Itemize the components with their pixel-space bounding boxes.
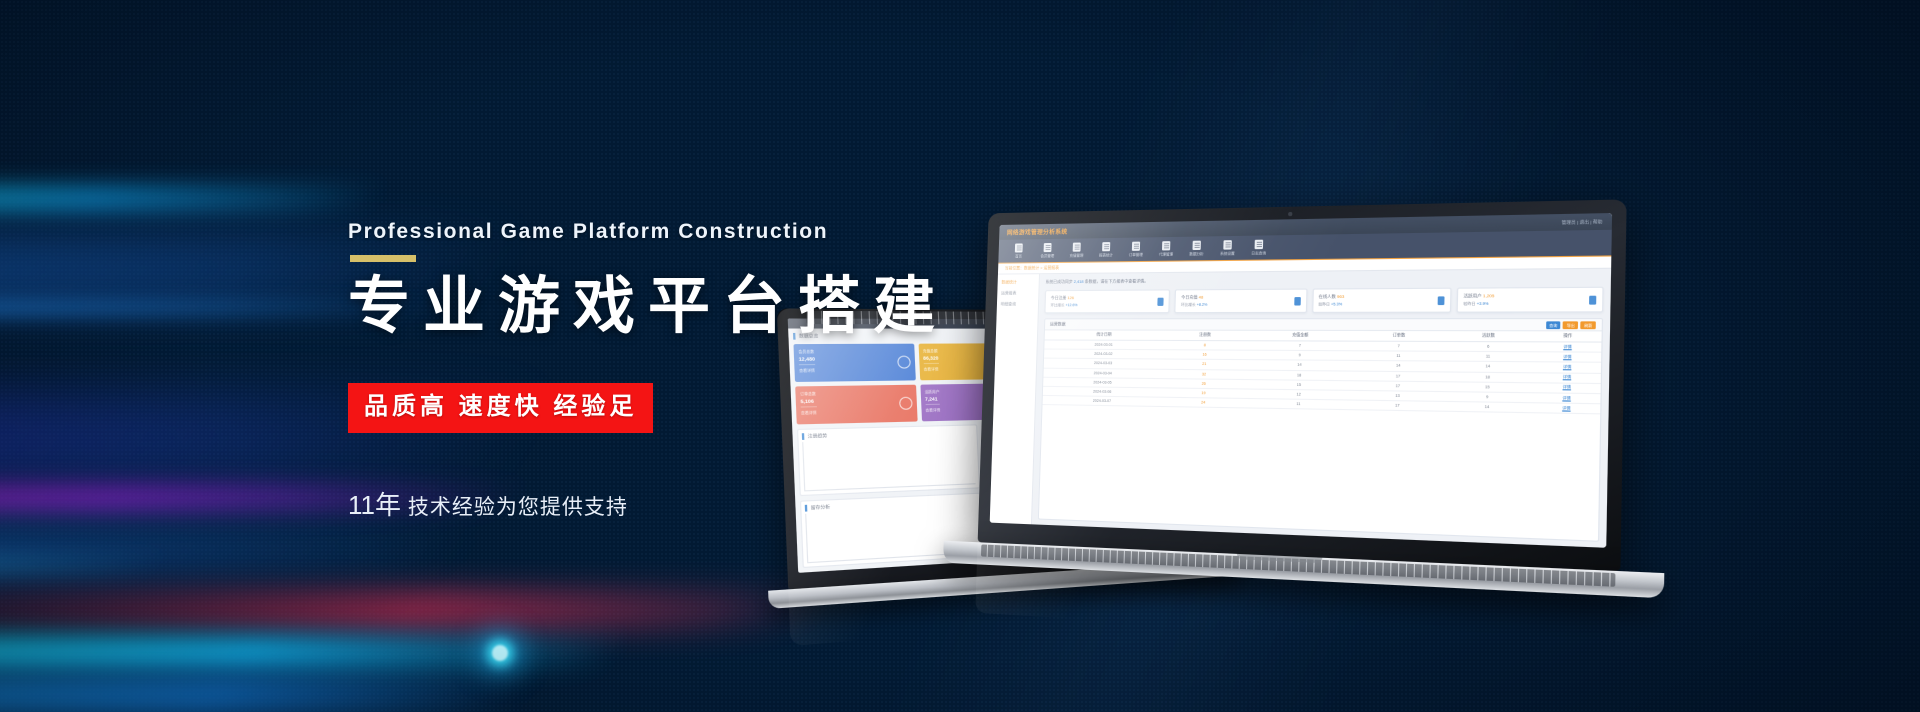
toolbar-item-settings[interactable]: 系统设置 [1212, 239, 1244, 256]
note-highlight: 2,418 [1074, 279, 1084, 284]
cell-detail-link[interactable]: 详情 [1534, 342, 1601, 353]
card-sub-value: +12.6% [1065, 303, 1077, 307]
cell-date: 2024-03-07 [1043, 396, 1163, 407]
slogan-badge-text: 品质高 速度快 经验足 [364, 393, 637, 420]
card-title: 在线人数 963 [1318, 294, 1344, 300]
sidebar-item-detail[interactable]: 明细查询 [1001, 301, 1035, 307]
home-icon [1015, 243, 1023, 252]
toolbar-label: 数据分析 [1189, 251, 1203, 256]
cell-orders: 7 [1355, 341, 1443, 351]
wallet-icon [1073, 242, 1081, 251]
streak-aqua-upper [0, 556, 166, 576]
toolbar-label: 会员管理 [1040, 253, 1054, 258]
users-icon [1044, 242, 1052, 251]
cell-registrations: 16 [1164, 350, 1246, 360]
stat-card[interactable]: 今日注册 126 环比增长 +12.6% [1044, 289, 1170, 313]
toolbar-item-order[interactable]: 订单管理 [1121, 241, 1151, 258]
card-sub-label: 较昨日 [1318, 302, 1330, 306]
refresh-button[interactable]: 刷新 [1581, 321, 1596, 329]
cell-active: 14 [1442, 402, 1533, 414]
stat-card-row: 今日注册 126 环比增长 +12.6% [1044, 287, 1603, 314]
order-icon [1132, 241, 1140, 250]
query-button[interactable]: 查询 [1546, 321, 1561, 329]
cell-orders: 11 [1355, 351, 1443, 361]
log-icon [1255, 239, 1264, 249]
col-actions: 操作 [1534, 331, 1601, 342]
streak-red [0, 596, 829, 626]
panel-title: 运营数据 [1050, 321, 1066, 327]
cell-registrations: 24 [1162, 397, 1244, 408]
breadcrumb-text: 当前位置：数据统计 > 运营报表 [1005, 265, 1059, 272]
hero-eyebrow: Professional Game Platform Construction [348, 220, 948, 244]
card-value: 48 [1199, 294, 1204, 299]
card-sub: 环比增长 +8.2% [1181, 303, 1207, 308]
glow-dot [492, 645, 508, 661]
sidebar-item-reports[interactable]: 运营报表 [1001, 290, 1035, 296]
user-menu[interactable]: 管理员 | 退出 | 帮助 [1562, 218, 1603, 225]
sync-note: 系统已成功同步 2,418 条数据，请在下方报表中查看详情。 [1045, 274, 1603, 285]
cell-active: 6 [1443, 341, 1534, 352]
slogan-badge: 品质高 速度快 经验足 [348, 383, 653, 433]
chart-icon [1437, 296, 1444, 305]
sidebar-item-stats[interactable]: 数据统计 [1001, 279, 1035, 285]
card-title: 今日注册 126 [1051, 295, 1078, 301]
agent-icon [1162, 241, 1170, 250]
card-value: 1,205 [1483, 293, 1495, 299]
chart-icon [1192, 240, 1200, 249]
data-table-panel: 运营数据 查询 导出 刷新 [1038, 318, 1603, 542]
cell-detail-link[interactable]: 详情 [1534, 362, 1601, 373]
col-date[interactable]: 统计日期 [1045, 330, 1165, 340]
streak-cyan-top [0, 186, 387, 212]
chart-icon [1158, 297, 1164, 305]
card-value: 963 [1337, 294, 1344, 299]
stat-card[interactable]: 活跃用户 1,205 较昨日 +3.9% [1456, 287, 1603, 313]
gold-rule [350, 255, 416, 262]
streak-blue-mid [0, 524, 476, 578]
note-suffix: 条数据，请在下方报表中查看详情。 [1085, 278, 1149, 284]
card-sub: 环比增长 +12.6% [1050, 303, 1077, 308]
toolbar-item-members[interactable]: 会员管理 [1033, 242, 1062, 258]
app-title: 网络游戏管理分析系统 [1007, 227, 1068, 237]
main-content: 系统已成功同步 2,418 条数据，请在下方报表中查看详情。 今日注册 [1032, 269, 1611, 548]
cell-active: 11 [1443, 351, 1534, 362]
panel-buttons: 查询 导出 刷新 [1546, 321, 1596, 329]
cell-detail-link[interactable]: 详情 [1534, 352, 1601, 363]
data-table: 统计日期 注册数 充值金额 订单数 活跃数 操作 [1043, 330, 1602, 414]
toolbar-label: 充值管理 [1070, 253, 1084, 258]
experience-text: 技术经验为您提供支持 [408, 496, 628, 519]
cell-registrations: 8 [1164, 340, 1246, 350]
toolbar-label: 报表统计 [1099, 253, 1113, 258]
hero-subline: 11年 技术经验为您提供支持 [348, 485, 948, 522]
card-sub-label: 较昨日 [1463, 302, 1475, 306]
toolbar-item-analysis[interactable]: 数据分析 [1181, 240, 1212, 257]
toolbar-label: 订单管理 [1129, 252, 1143, 257]
card-title-text: 在线人数 [1318, 294, 1335, 299]
experience-years: 11年 [348, 490, 401, 520]
toolbar-label: 首页 [1015, 254, 1022, 259]
card-sub-value: +5.3% [1331, 302, 1342, 306]
note-prefix: 系统已成功同步 [1045, 279, 1072, 284]
col-orders[interactable]: 订单数 [1355, 331, 1443, 341]
hero-copy-block: Professional Game Platform Construction … [348, 220, 948, 522]
cell-detail-link[interactable]: 详情 [1533, 403, 1601, 414]
card-sub-value: +8.2% [1197, 303, 1208, 307]
front-laptop: 网络游戏管理分析系统 管理员 | 退出 | 帮助 首页 会员管理 [975, 199, 1626, 651]
card-title: 今日充值 48 [1181, 294, 1207, 300]
toolbar-item-agent[interactable]: 代理管理 [1151, 240, 1182, 257]
col-registrations[interactable]: 注册数 [1164, 331, 1246, 341]
front-laptop-screen: 网络游戏管理分析系统 管理员 | 退出 | 帮助 首页 会员管理 [990, 213, 1612, 548]
col-active[interactable]: 活跃数 [1443, 331, 1534, 342]
col-recharge[interactable]: 充值金额 [1246, 331, 1355, 341]
cell-detail-link[interactable]: 详情 [1533, 372, 1600, 383]
toolbar-item-home[interactable]: 首页 [1004, 243, 1033, 259]
report-icon [1102, 242, 1110, 251]
cell-recharge: 7 [1246, 341, 1355, 351]
front-laptop-lid: 网络游戏管理分析系统 管理员 | 退出 | 帮助 首页 会员管理 [978, 199, 1627, 571]
toolbar-item-report[interactable]: 报表统计 [1091, 241, 1121, 258]
cell-recharge: 11 [1244, 399, 1353, 410]
stat-card[interactable]: 在线人数 963 较昨日 +5.3% [1312, 288, 1452, 313]
cell-orders: 17 [1353, 400, 1441, 411]
streak-aqua-lower [0, 676, 531, 712]
toolbar-label: 系统设置 [1220, 251, 1235, 256]
card-sub: 较昨日 +3.9% [1463, 302, 1494, 308]
stat-card[interactable]: 今日充值 48 环比增长 +8.2% [1175, 289, 1307, 314]
card-title-text: 今日注册 [1051, 295, 1067, 300]
streak-aqua-bright [0, 636, 629, 670]
toolbar-label: 代理管理 [1159, 252, 1173, 257]
webcam-icon [1288, 212, 1292, 216]
gear-icon [1223, 240, 1232, 249]
hero-banner: Professional Game Platform Construction … [0, 0, 1920, 712]
card-value: 126 [1067, 295, 1074, 300]
chart-icon [1294, 297, 1301, 305]
toolbar-item-log[interactable]: 日志查询 [1243, 239, 1275, 256]
chart-icon [1589, 295, 1596, 304]
toolbar-label: 日志查询 [1251, 251, 1266, 256]
export-button[interactable]: 导出 [1563, 321, 1578, 329]
card-title-text: 今日充值 [1181, 294, 1198, 299]
card-sub-value: +3.9% [1477, 302, 1489, 306]
card-sub: 较昨日 +5.3% [1318, 302, 1344, 307]
card-sub-label: 环比增长 [1181, 303, 1196, 307]
toolbar-item-recharge[interactable]: 充值管理 [1062, 242, 1092, 259]
card-sub-label: 环比增长 [1050, 303, 1064, 307]
card-title-text: 活跃用户 [1463, 293, 1481, 299]
card-title: 活跃用户 1,205 [1463, 293, 1494, 300]
hero-headline: 专业游戏平台搭建 [348, 274, 948, 341]
